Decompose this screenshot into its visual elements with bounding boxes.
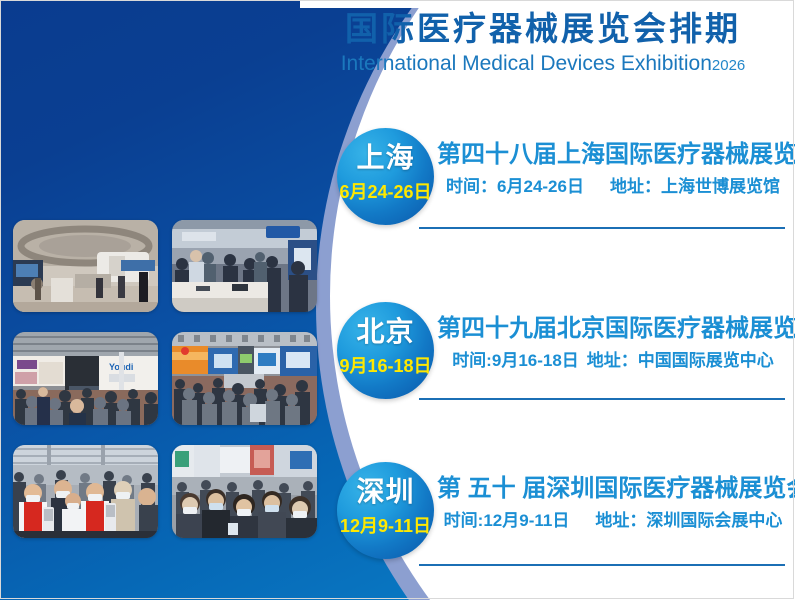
row-divider-2 [419, 398, 785, 400]
time-label: 时间: [452, 351, 492, 370]
gallery-photo-4[interactable] [172, 332, 317, 425]
badge-city-name: 深圳 [337, 475, 434, 509]
badge-date-range: 6月24-26日 [337, 180, 434, 204]
subtitle-text: International Medical Devices Exhibition [341, 52, 712, 75]
photo-5-image [13, 445, 158, 538]
venue-label: 地址： [610, 177, 661, 196]
event-meta: 时间：6月24-26日地址：上海世博展览馆 [437, 174, 789, 200]
badge-date-range: 12月9-11日 [337, 514, 434, 538]
event-details-shenzhen: 第 五十 届深圳国际医疗器械展览会 时间:12月9-11日地址：深圳国际会展中心 [437, 474, 789, 534]
time-label: 时间： [446, 177, 497, 196]
photo-6-image [172, 445, 317, 538]
event-title: 第四十八届上海国际医疗器械展览会 [437, 140, 789, 170]
page-title: 国际医疗器械展览会排期 [300, 8, 786, 50]
poster-header: 国际医疗器械展览会排期 International Medical Device… [300, 8, 786, 79]
badge-date-range: 9月16-18日 [337, 354, 434, 378]
exhibition-schedule-poster: 国际医疗器械展览会排期 International Medical Device… [0, 0, 795, 600]
page-subtitle: International Medical Devices Exhibition… [300, 51, 786, 79]
white-top-strip [300, 0, 795, 8]
gallery-photo-5[interactable] [13, 445, 158, 538]
photo-3-image: Youdi [13, 332, 158, 425]
gallery-photo-6[interactable] [172, 445, 317, 538]
event-details-beijing: 第四十九届北京国际医疗器械展览会 时间:9月16-18日地址：中国国际展览中心 [437, 314, 789, 374]
photo-1-image [13, 220, 158, 312]
photo-2-image [172, 220, 317, 312]
city-badge-shenzhen[interactable]: 深圳 12月9-11日 [337, 462, 434, 559]
city-badge-shanghai[interactable]: 上海 6月24-26日 [337, 128, 434, 225]
photo-4-image [172, 332, 317, 425]
venue-value: 深圳国际会展中心 [646, 511, 782, 530]
row-divider-3 [419, 564, 785, 566]
row-divider-1 [419, 227, 785, 229]
time-value: 9月16-18日 [492, 351, 579, 370]
event-title: 第 五十 届深圳国际医疗器械展览会 [437, 474, 789, 504]
time-value: 6月24-26日 [497, 177, 584, 196]
subtitle-year: 2026 [712, 57, 745, 74]
venue-value: 上海世博展览馆 [661, 177, 780, 196]
time-value: 12月9-11日 [483, 511, 569, 530]
event-title: 第四十九届北京国际医疗器械展览会 [437, 314, 789, 344]
venue-label: 地址： [595, 511, 646, 530]
event-meta: 时间:9月16-18日地址：中国国际展览中心 [437, 348, 789, 374]
gallery-photo-1[interactable] [13, 220, 158, 312]
gallery-photo-3[interactable]: Youdi [13, 332, 158, 425]
venue-label: 地址： [587, 351, 638, 370]
venue-value: 中国国际展览中心 [638, 351, 774, 370]
event-meta: 时间:12月9-11日地址：深圳国际会展中心 [437, 508, 789, 534]
event-details-shanghai: 第四十八届上海国际医疗器械展览会 时间：6月24-26日地址：上海世博展览馆 [437, 140, 789, 200]
badge-city-name: 上海 [337, 141, 434, 175]
gallery-photo-2[interactable] [172, 220, 317, 312]
time-label: 时间: [444, 511, 484, 530]
city-badge-beijing[interactable]: 北京 9月16-18日 [337, 302, 434, 399]
badge-city-name: 北京 [337, 315, 434, 349]
